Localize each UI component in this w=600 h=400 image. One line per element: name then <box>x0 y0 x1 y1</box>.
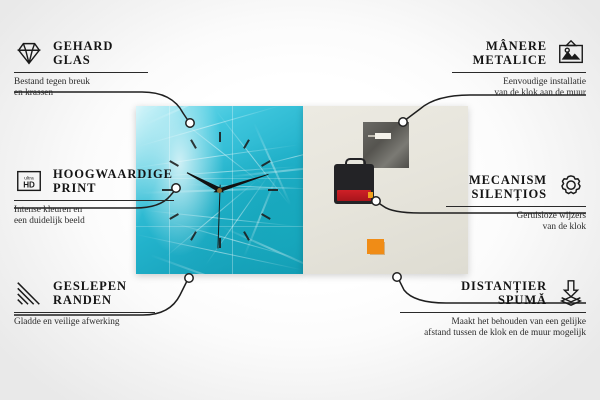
picture-frame-icon <box>556 38 586 68</box>
beveled-edges-icon <box>14 278 44 308</box>
metal-hanger-plate <box>363 122 409 168</box>
feature-geslepen-randen: GESLEPEN RANDEN Gladde en veilige afwerk… <box>14 278 155 328</box>
divider <box>400 312 586 313</box>
leader-dot-geslepen-randen <box>185 274 193 282</box>
divider <box>446 206 586 207</box>
ultra-hd-icon: ultra HD <box>14 166 44 196</box>
clock-movement <box>334 164 374 204</box>
svg-text:HD: HD <box>23 181 35 190</box>
foam-spacer <box>367 239 384 254</box>
feature-mecanism-silentios: MECANISM SILENȚIOS Geruisloze wijzers va… <box>446 172 586 234</box>
feature-title: HOOGWAARDIGE PRINT <box>53 167 173 196</box>
feature-description: Bestand tegen breuk en krassen <box>14 77 148 100</box>
divider <box>14 200 174 201</box>
feature-description: Eenvoudige installatie van de klok aan d… <box>452 77 586 100</box>
divider <box>14 72 148 73</box>
spacer-stack-icon <box>556 278 586 308</box>
feature-gehard-glas: GEHARD GLAS Bestand tegen breuk en krass… <box>14 38 148 100</box>
feature-title: GESLEPEN RANDEN <box>53 279 127 308</box>
divider <box>14 312 155 313</box>
feature-description: Gladde en veilige afwerking <box>14 317 155 328</box>
feature-distantier-spuma: DISTANȚIER SPUMĂ Maakt het behouden van … <box>400 278 586 340</box>
clock-tick <box>220 189 278 191</box>
clock-tick <box>219 132 221 190</box>
hanger-loop <box>345 158 366 169</box>
product-image <box>136 106 468 274</box>
clock-hub <box>217 188 222 193</box>
battery <box>337 190 371 201</box>
clock-back-panel <box>303 106 468 274</box>
diamond-icon <box>14 38 44 68</box>
feature-description: Geruisloze wijzers van de klok <box>446 211 586 234</box>
feature-description: Intense kleuren en een duidelijk beeld <box>14 205 174 228</box>
feature-title: MÂNERE METALICE <box>473 39 547 68</box>
gear-icon <box>556 172 586 202</box>
feature-hoogwaardige-print: ultra HD HOOGWAARDIGE PRINT Intense kleu… <box>14 166 174 228</box>
feature-manere-metalice: MÂNERE METALICE Eenvoudige installatie v… <box>452 38 586 100</box>
feature-title: DISTANȚIER SPUMĂ <box>461 279 547 308</box>
feature-description: Maakt het behouden van een gelijke afsta… <box>400 317 586 340</box>
divider <box>452 72 586 73</box>
product-feature-infographic: GEHARD GLAS Bestand tegen breuk en krass… <box>0 0 600 400</box>
feature-title: GEHARD GLAS <box>53 39 113 68</box>
feature-title: MECANISM SILENȚIOS <box>469 173 547 202</box>
